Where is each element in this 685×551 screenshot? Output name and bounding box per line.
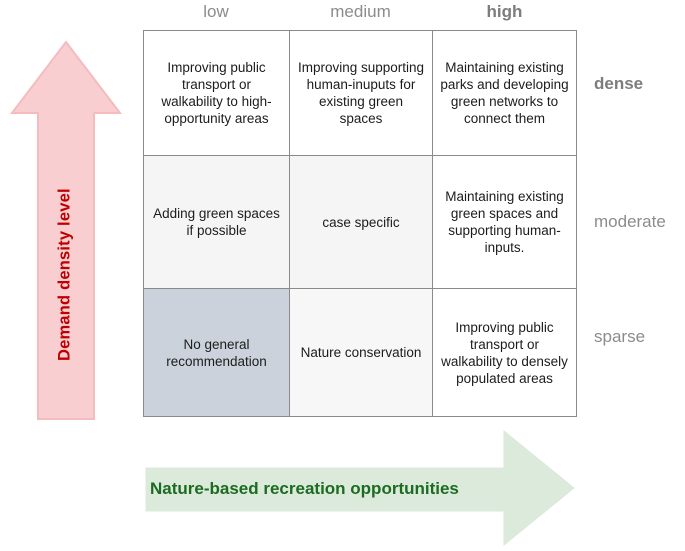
matrix-cell-text: Adding green spaces if possible bbox=[151, 205, 282, 239]
matrix-cell-text: No general recommendation bbox=[151, 336, 282, 370]
matrix-cell-moderate-low: Adding green spaces if possible bbox=[144, 156, 290, 289]
recreation-opportunities-axis-arrow bbox=[140, 425, 580, 551]
column-header-high: high bbox=[432, 2, 577, 22]
right-arrow-icon bbox=[146, 431, 574, 545]
matrix-cell-text: Nature conservation bbox=[301, 344, 422, 361]
figure-canvas: low medium high Improving public transpo… bbox=[0, 0, 685, 551]
demand-density-axis-arrow bbox=[6, 38, 126, 423]
row-label-moderate: moderate bbox=[594, 212, 666, 232]
column-header-low: low bbox=[143, 2, 289, 22]
up-arrow-icon bbox=[12, 42, 120, 419]
matrix-cell-text: Improving supporting human-inuputs for e… bbox=[297, 59, 425, 127]
recommendation-matrix: Improving public transport or walkabilit… bbox=[143, 30, 577, 417]
matrix-cell-text: Maintaining existing parks and developin… bbox=[440, 59, 569, 127]
matrix-cell-dense-high: Maintaining existing parks and developin… bbox=[433, 31, 576, 156]
matrix-cell-sparse-high: Improving public transport or walkabilit… bbox=[433, 289, 576, 416]
matrix-cell-text: Maintaining existing green spaces and su… bbox=[440, 188, 569, 256]
matrix-cell-text: Improving public transport or walkabilit… bbox=[440, 319, 569, 387]
matrix-cell-sparse-low: No general recommendation bbox=[144, 289, 290, 416]
matrix-cell-dense-low: Improving public transport or walkabilit… bbox=[144, 31, 290, 156]
column-header-medium: medium bbox=[289, 2, 432, 22]
matrix-cell-text: Improving public transport or walkabilit… bbox=[151, 59, 282, 127]
matrix-cell-text: case specific bbox=[322, 214, 399, 231]
matrix-cell-sparse-medium: Nature conservation bbox=[290, 289, 433, 416]
matrix-cell-moderate-high: Maintaining existing green spaces and su… bbox=[433, 156, 576, 289]
row-label-dense: dense bbox=[594, 74, 643, 94]
matrix-cell-moderate-medium: case specific bbox=[290, 156, 433, 289]
row-label-sparse: sparse bbox=[594, 327, 645, 347]
matrix-cell-dense-medium: Improving supporting human-inuputs for e… bbox=[290, 31, 433, 156]
